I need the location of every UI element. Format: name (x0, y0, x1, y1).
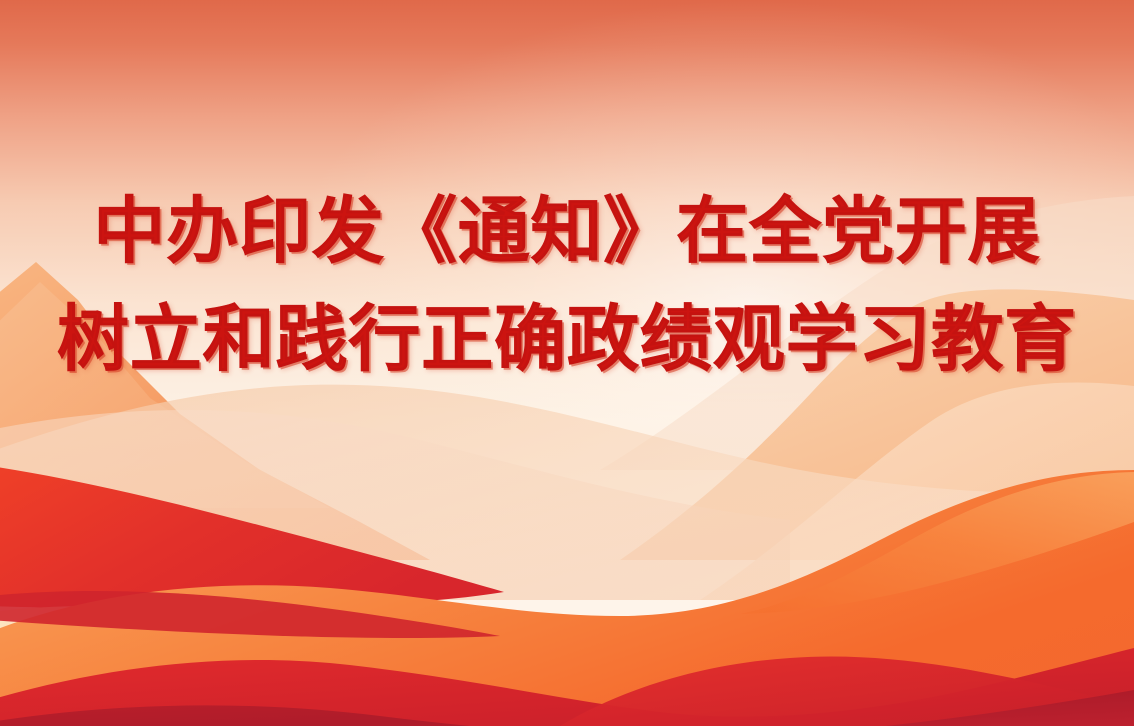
background-artwork (0, 0, 1134, 726)
poster-banner: 中办印发《通知》在全党开展 树立和践行正确政绩观学习教育 (0, 0, 1134, 726)
